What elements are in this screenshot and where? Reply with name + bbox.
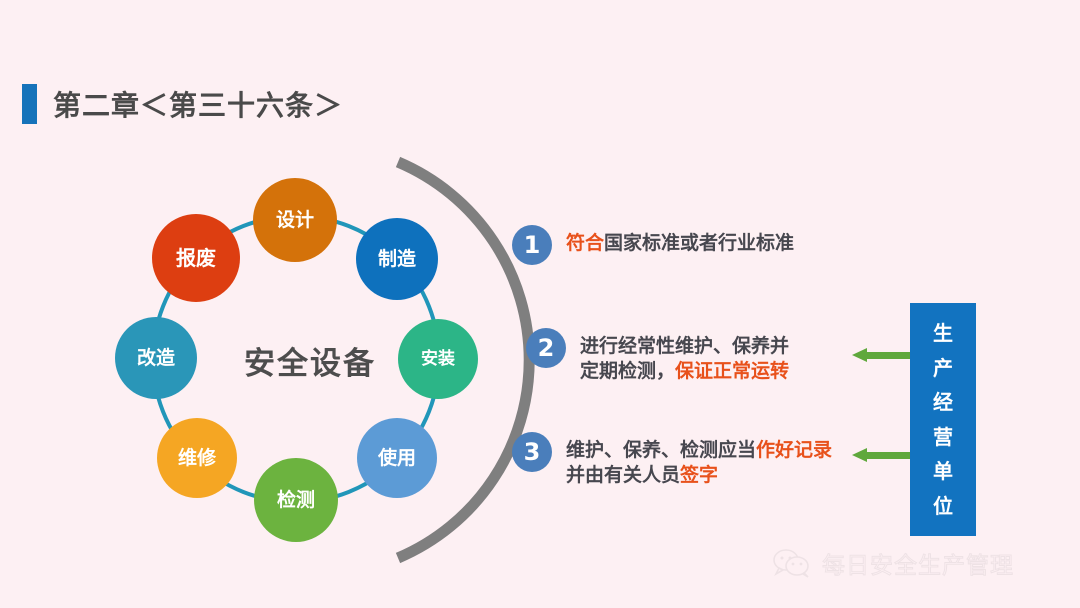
arrow-shaft: [865, 452, 910, 459]
cycle-node-label: 检测: [277, 491, 315, 510]
page-title: 第二章＜第三十六条＞: [22, 82, 343, 126]
watermark-text: 每日安全生产管理: [822, 546, 1014, 580]
entity-box: 生产经营单位: [910, 303, 976, 536]
plain-text: 并由有关人员: [566, 464, 680, 486]
item-text: 进行经常性维护、保养并定期检测，保证正常运转: [580, 328, 789, 384]
green-arrow-to-item-3: [852, 448, 910, 462]
cycle-node-label: 报废: [176, 248, 216, 268]
entity-box-char: 生: [933, 323, 953, 343]
cycle-node: 维修: [157, 418, 237, 498]
cycle-node-label: 设计: [276, 211, 314, 230]
item-text-line: 符合国家标准或者行业标准: [566, 231, 794, 256]
list-item: 2 进行经常性维护、保养并定期检测，保证正常运转: [526, 328, 789, 384]
cycle-node: 设计: [253, 178, 337, 262]
watermark: 每日安全生产管理: [772, 546, 1014, 580]
plain-text: 维护、保养、检测应当: [566, 439, 756, 461]
emphasis-text: 作好记录: [756, 439, 832, 461]
emphasis-text: 符合: [566, 232, 604, 254]
slide-canvas: 第二章＜第三十六条＞ 安全设备 设计制造安装使用检测维修改造报废 1 符合国家标…: [0, 0, 1080, 608]
title-accent-bar: [22, 84, 37, 124]
title-text: 第二章＜第三十六条＞: [53, 84, 343, 124]
item-text: 符合国家标准或者行业标准: [566, 225, 794, 256]
entity-box-char: 经: [933, 392, 953, 412]
item-text-line: 并由有关人员签字: [566, 463, 832, 488]
entity-box-char: 产: [933, 358, 953, 378]
entity-box-char: 单: [933, 461, 953, 481]
gray-arc-decoration: [370, 150, 540, 570]
plain-text: 国家标准或者行业标准: [604, 232, 794, 254]
list-item: 1 符合国家标准或者行业标准: [512, 225, 794, 265]
entity-box-char: 位: [933, 496, 953, 516]
item-number-badge: 1: [512, 225, 552, 265]
entity-box-char: 营: [933, 427, 953, 447]
wechat-icon: [772, 548, 812, 578]
item-text: 维护、保养、检测应当作好记录并由有关人员签字: [566, 432, 832, 488]
cycle-node: 检测: [254, 458, 338, 542]
item-number-badge: 3: [512, 432, 552, 472]
green-arrow-to-item-2: [852, 348, 910, 362]
cycle-node: 报废: [152, 214, 240, 302]
item-number-badge: 2: [526, 328, 566, 368]
cycle-node-label: 维修: [178, 449, 216, 468]
emphasis-text: 保证正常运转: [675, 360, 789, 382]
arrow-shaft: [865, 352, 910, 359]
item-text-line: 维护、保养、检测应当作好记录: [566, 438, 832, 463]
plain-text: 进行经常性维护、保养并: [580, 335, 789, 357]
cycle-node-label: 改造: [137, 349, 175, 368]
list-item: 3 维护、保养、检测应当作好记录并由有关人员签字: [512, 432, 832, 488]
emphasis-text: 签字: [680, 464, 718, 486]
item-text-line: 进行经常性维护、保养并: [580, 334, 789, 359]
item-text-line: 定期检测，保证正常运转: [580, 359, 789, 384]
plain-text: 定期检测，: [580, 360, 675, 382]
cycle-node: 改造: [115, 317, 197, 399]
